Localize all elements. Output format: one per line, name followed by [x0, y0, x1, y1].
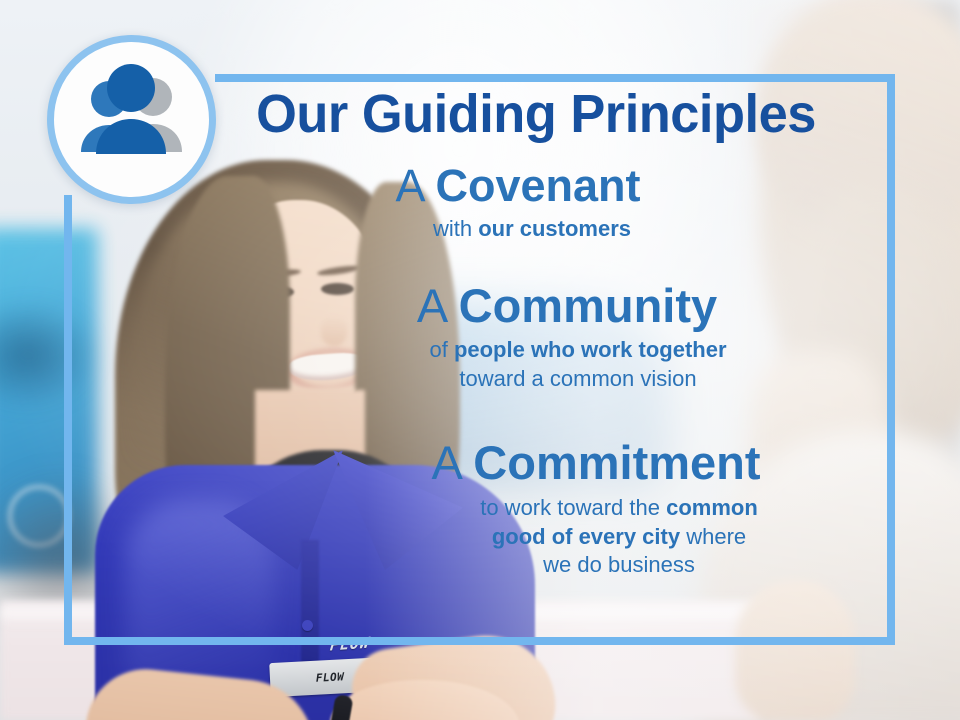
principle-covenant-subtext: with our customers	[200, 215, 836, 244]
seg-bold: our customers	[478, 216, 631, 241]
seg-plain: where	[680, 524, 746, 549]
seg-bold: common	[666, 495, 758, 520]
principle-covenant-article: A	[395, 160, 435, 211]
principle-commitment-heading: A Commitment	[320, 437, 872, 490]
seg-plain: of	[429, 337, 453, 362]
principle-commitment-article: A	[431, 436, 473, 489]
page-title: Our Guiding Principles	[210, 86, 862, 143]
principle-commitment: A Commitment to work toward the common g…	[200, 437, 872, 579]
principle-covenant-subline-0: with our customers	[228, 215, 836, 244]
employee-name-badge-text: FLOW	[315, 670, 344, 684]
seg-plain: toward a common vision	[459, 366, 696, 391]
principle-community-word: Community	[459, 279, 718, 332]
principle-community: A Community of people who work together …	[200, 280, 872, 394]
principle-community-subline-1: toward a common vision	[284, 365, 872, 394]
seg-plain: we do business	[543, 552, 695, 577]
seg-plain: to work toward the	[480, 495, 666, 520]
flow-chest-logo-text: FLOW	[329, 634, 371, 655]
seg-bold: good of every city	[492, 524, 680, 549]
principle-community-heading: A Community	[262, 280, 872, 333]
guiding-principles-banner: FLOW FLOW	[0, 0, 960, 720]
principle-community-subline-0: of people who work together	[284, 336, 872, 365]
principle-covenant: A Covenant with our customers	[200, 161, 872, 244]
principle-commitment-word: Commitment	[473, 436, 760, 489]
principle-commitment-subline-2: we do business	[366, 551, 872, 580]
customer-hand	[735, 580, 855, 720]
principle-community-subtext: of people who work together toward a com…	[262, 336, 872, 393]
seg-bold: people who work together	[454, 337, 727, 362]
principle-commitment-subtext: to work toward the common good of every …	[320, 494, 872, 580]
people-group-icon	[54, 42, 209, 197]
principles-content: Our Guiding Principles A Covenant with o…	[200, 86, 872, 584]
principle-commitment-subline-0: to work toward the common	[366, 494, 872, 523]
principle-commitment-subline-1: good of every city where	[366, 523, 872, 552]
principle-covenant-heading: A Covenant	[200, 161, 836, 211]
blurred-banner-car	[0, 300, 100, 410]
seg-plain: with	[433, 216, 478, 241]
principle-community-article: A	[417, 279, 459, 332]
people-group-badge	[47, 35, 216, 204]
employee-shirt-button	[302, 620, 313, 631]
principle-covenant-word: Covenant	[436, 160, 641, 211]
